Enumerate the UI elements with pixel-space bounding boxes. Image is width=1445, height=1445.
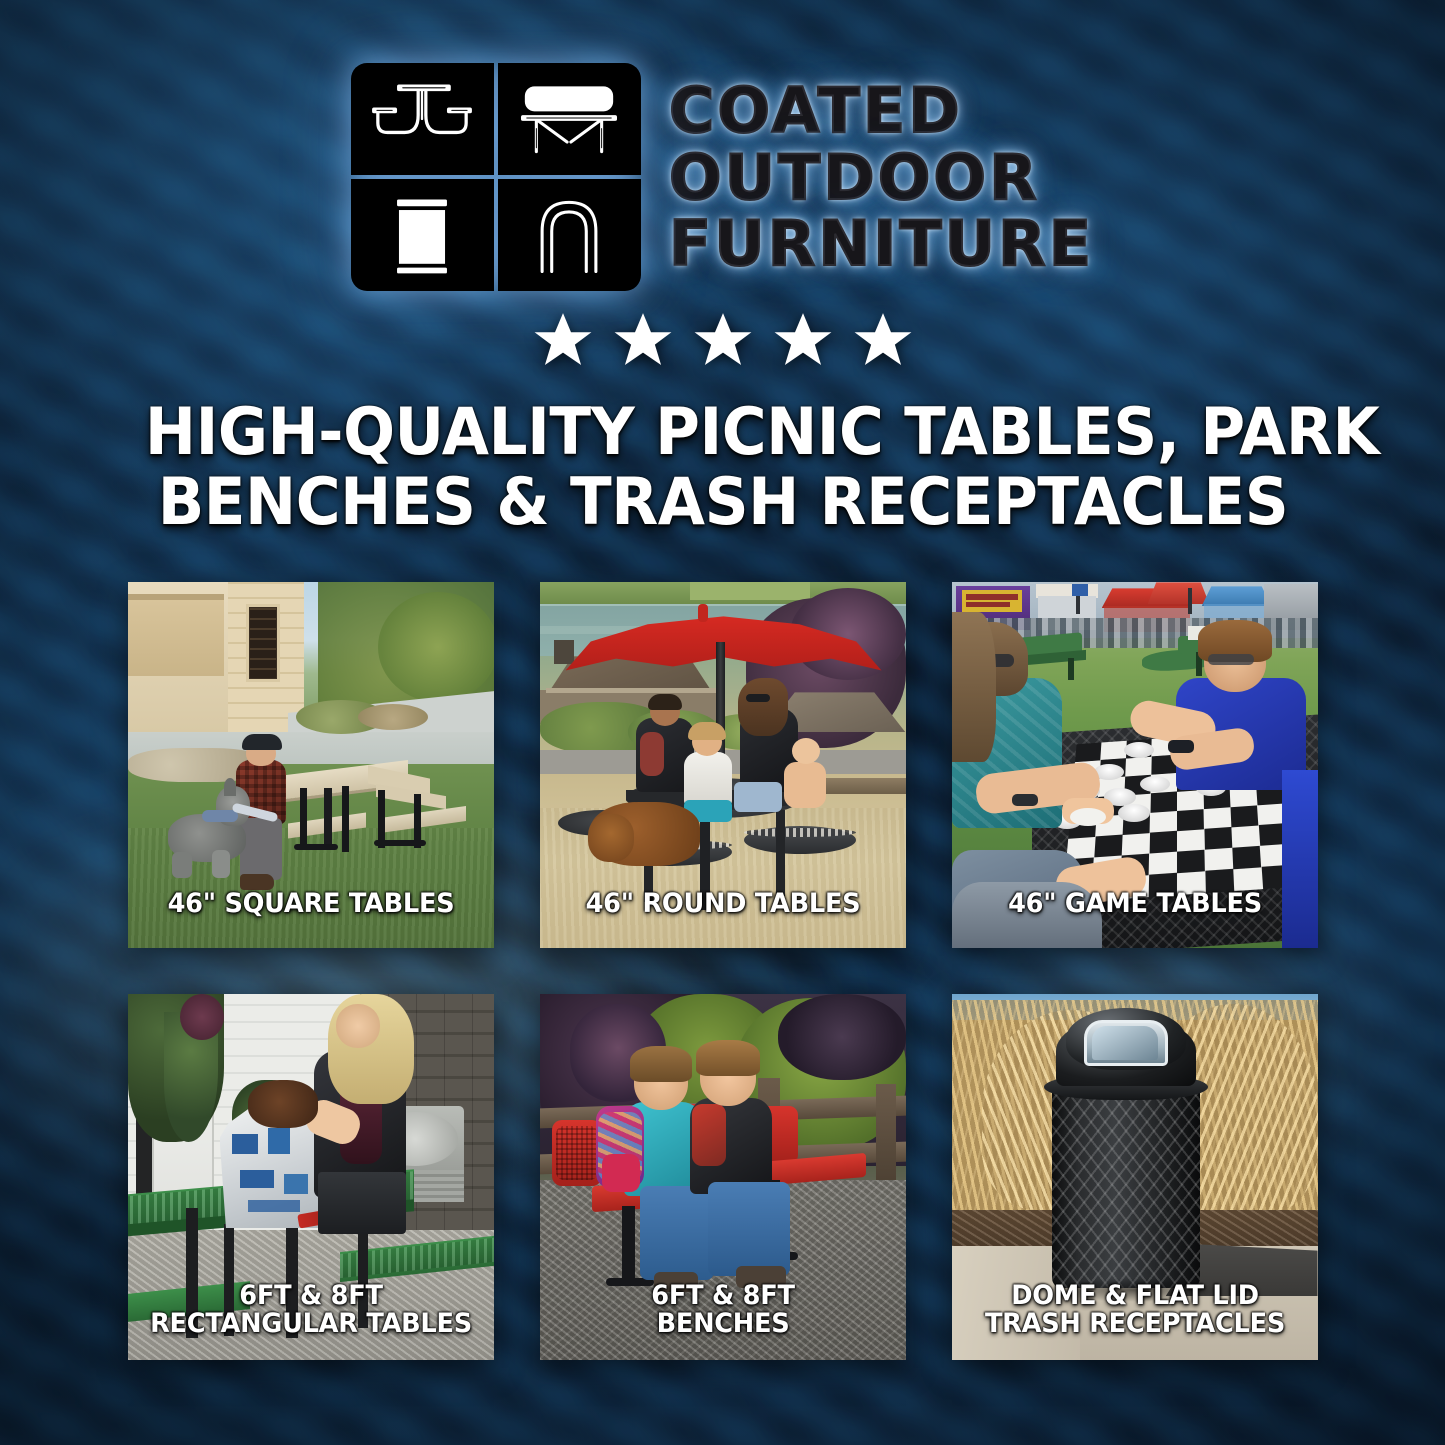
page-title: HIGH-QUALITY PICNIC TABLES, PARK BENCHES… <box>144 398 1300 538</box>
picnic-table-frame-icon <box>351 63 494 175</box>
poster-content: COATED OUTDOOR FURNITURE HIGH-QUALITY PI… <box>0 0 1445 1445</box>
product-caption: 6FT & 8FT RECTANGULAR TABLES <box>137 1282 485 1338</box>
product-grid: 46" SQUARE TABLES <box>128 582 1318 1360</box>
headline-line-2: BENCHES & TRASH RECEPTACLES <box>144 468 1300 538</box>
trash-receptacle-icon <box>351 179 494 291</box>
caption-line-1: 46" SQUARE TABLES <box>137 890 485 918</box>
product-caption: 6FT & 8FT BENCHES <box>549 1282 897 1338</box>
caption-line-2: TRASH RECEPTACLES <box>961 1310 1309 1338</box>
product-caption: 46" ROUND TABLES <box>549 890 897 918</box>
product-caption: DOME & FLAT LID TRASH RECEPTACLES <box>961 1282 1309 1338</box>
brand-line-3: FURNITURE <box>669 212 1094 276</box>
caption-line-1: DOME & FLAT LID <box>961 1282 1309 1310</box>
star-icon <box>691 310 755 372</box>
product-caption: 46" SQUARE TABLES <box>137 890 485 918</box>
star-icon <box>611 310 675 372</box>
brand-line-2: OUTDOOR <box>669 146 1094 210</box>
star-icon <box>531 310 595 372</box>
product-card-benches[interactable]: 6FT & 8FT BENCHES <box>540 994 906 1360</box>
product-caption: 46" GAME TABLES <box>961 890 1309 918</box>
star-icon <box>771 310 835 372</box>
star-rating <box>531 310 915 372</box>
poster-canvas: COATED OUTDOOR FURNITURE HIGH-QUALITY PI… <box>0 0 1445 1445</box>
headline-line-1: HIGH-QUALITY PICNIC TABLES, PARK <box>144 398 1300 468</box>
caption-line-1: 6FT & 8FT <box>549 1282 897 1310</box>
park-bench-icon <box>498 63 641 175</box>
caption-line-1: 46" GAME TABLES <box>961 890 1309 918</box>
caption-line-1: 46" ROUND TABLES <box>549 890 897 918</box>
brand-wordmark: COATED OUTDOOR FURNITURE <box>669 77 1094 276</box>
caption-line-1: 6FT & 8FT <box>137 1282 485 1310</box>
caption-line-2: BENCHES <box>549 1310 897 1338</box>
product-card-rectangular-tables[interactable]: 6FT & 8FT RECTANGULAR TABLES <box>128 994 494 1360</box>
product-card-round-tables[interactable]: 46" ROUND TABLES <box>540 582 906 948</box>
brand-header: COATED OUTDOOR FURNITURE <box>351 58 1094 296</box>
star-icon <box>851 310 915 372</box>
bike-rack-arch-icon <box>498 179 641 291</box>
brand-line-1: COATED <box>669 79 1094 143</box>
product-card-square-tables[interactable]: 46" SQUARE TABLES <box>128 582 494 948</box>
product-card-game-tables[interactable]: 46" GAME TABLES <box>952 582 1318 948</box>
caption-line-2: RECTANGULAR TABLES <box>137 1310 485 1338</box>
four-quadrant-furniture-logo <box>351 63 641 291</box>
product-card-trash-receptacles[interactable]: DOME & FLAT LID TRASH RECEPTACLES <box>952 994 1318 1360</box>
